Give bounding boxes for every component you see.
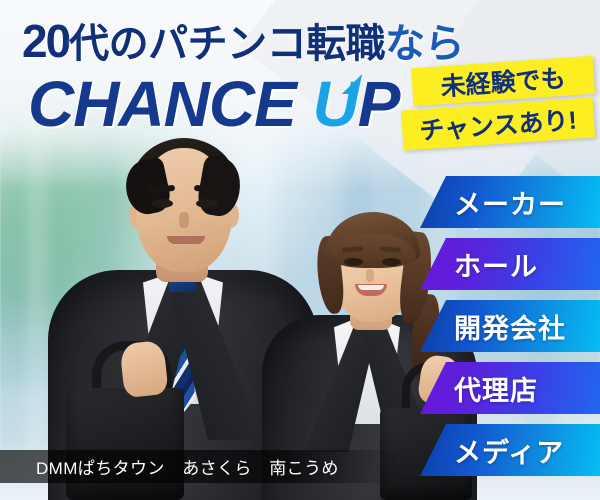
tag-maker[interactable]: メーカー — [420, 176, 600, 228]
man-eye-left — [151, 199, 173, 208]
tag-agency[interactable]: 代理店 — [420, 362, 600, 414]
woman-eye-left — [344, 258, 363, 266]
tag-development-company[interactable]: 開発会社 — [420, 300, 600, 352]
tag-hall[interactable]: ホール — [420, 238, 600, 290]
headline-text: 20代のパチンコ転職なら — [22, 18, 464, 64]
man-briefcase — [66, 388, 184, 500]
woman-eye-right — [382, 258, 401, 266]
logo-letter-u-arrow: U — [313, 72, 358, 136]
man-nose — [179, 212, 189, 228]
woman-nose — [366, 269, 374, 282]
banner-ad[interactable]: 20代のパチンコ転職なら CHANCE UP 未経験でも チャンスあり! メーカ… — [0, 0, 600, 500]
tag-media-label: メディア — [420, 431, 564, 470]
headline-main: 代のパチンコ転職 — [69, 22, 385, 66]
logo-letter-p: P — [358, 68, 400, 140]
caption-bar: DMMぱちタウン あさくら 南こうめ — [0, 450, 400, 483]
woman-teeth — [358, 285, 384, 290]
chance-up-logotype: CHANCE UP — [28, 72, 399, 136]
yellow-badge: 未経験でも チャンスあり! — [402, 58, 598, 150]
tag-development-company-label: 開発会社 — [420, 307, 566, 346]
man-mouth — [167, 236, 205, 244]
headline-number: 20 — [22, 15, 69, 67]
tag-maker-label: メーカー — [420, 183, 566, 222]
tag-media[interactable]: メディア — [420, 424, 600, 476]
caption-text: DMMぱちタウン あさくら 南こうめ — [0, 454, 339, 479]
logo-word-chance: CHANCE — [28, 68, 296, 140]
badge-line-2: チャンスあり! — [401, 97, 595, 150]
man-eye-right — [196, 199, 218, 208]
